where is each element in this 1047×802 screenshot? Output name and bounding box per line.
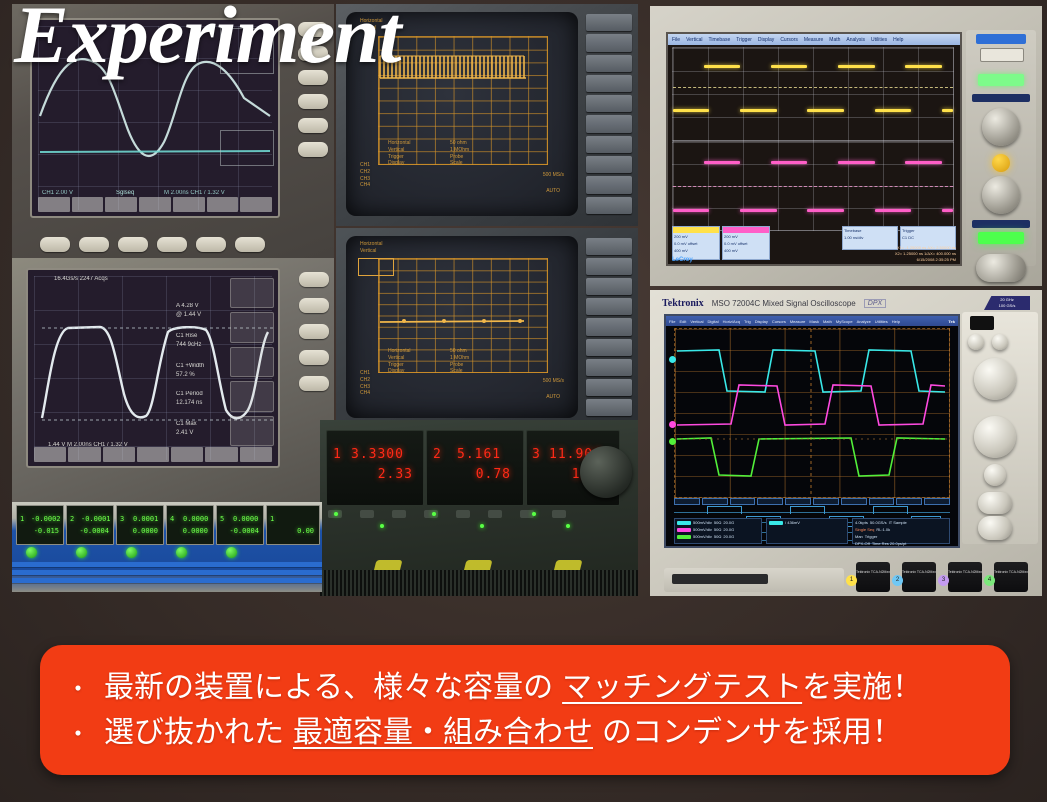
psu-2-volts: 5.161 — [457, 447, 501, 462]
crt-autolabel: AUTO — [546, 394, 560, 401]
green-4-ch: 4 — [170, 515, 174, 523]
crt-settings-c: CH1 CH2 CH3 CH4 — [360, 162, 370, 189]
ch3-bandwidth: 20.0G — [723, 534, 734, 539]
green-4-i: 0.0000 — [183, 527, 208, 535]
lecroy-menu-vertical[interactable]: Vertical — [686, 37, 702, 43]
photo-bench-oscilloscope-square: 16.4Gs/s 2247 Acqs A 4.28 V @ 1.44 V C1 … — [12, 258, 334, 504]
crt-settings-a: Horizontal Vertical Trigger Display — [388, 140, 411, 167]
tek-menu-edit[interactable]: Edit — [679, 319, 686, 324]
status-record: 4.0kpts — [855, 520, 868, 525]
lecroy-menu-analysis[interactable]: Analysis — [846, 37, 865, 43]
green-4-v: 0.0000 — [183, 515, 208, 523]
tektronix-front-panel — [962, 312, 1038, 544]
crt-settings-b: 50 ohm 1 MOhm Probe Scale — [450, 348, 469, 375]
psu-status-led — [532, 512, 536, 516]
status-man: Man — [855, 534, 863, 539]
bullet-glyph-2: ・ — [66, 722, 90, 747]
probe-model-label: Tektronix TCA-N2Mxx — [856, 562, 890, 574]
lecroy-ch2-text: 200 mV — [723, 233, 769, 240]
tek-d0-pulse — [873, 506, 908, 514]
cursor-invdx: 1/ΔX= 400.000 ns — [924, 251, 956, 256]
status-dpx: DPX-Off — [855, 541, 870, 546]
photo-tektronix-mso: Tektronix MSO 72004C Mixed Signal Oscill… — [650, 290, 1042, 596]
ch3-color-chip — [677, 535, 691, 539]
probe-model-label: Tektronix TCA-N2Mxx — [902, 562, 936, 574]
lecroy-run-indicator — [978, 232, 1024, 244]
crt-top-label: Horizontal Vertical — [360, 241, 383, 255]
lecroy-menu-trigger[interactable]: Trigger — [736, 37, 752, 43]
legend-row-ch3: 500mV/div 50Ω 20.0G — [675, 533, 761, 540]
lecroy-label-plate — [980, 48, 1024, 62]
psu-1-volts: 3.3300 — [351, 447, 404, 462]
legend-row-ch2: 500mV/div 50Ω 20.0G — [675, 526, 761, 533]
ch1-color-chip — [677, 521, 691, 525]
psu-status-led — [334, 512, 338, 516]
callout-line-2: ・ 選び抜かれた 最適容量・組み合わせ のコンデンサを採用！ — [66, 717, 984, 749]
tek-d0-pulse — [790, 506, 825, 514]
psu-status-led — [380, 524, 384, 528]
lecroy-section-divider — [972, 94, 1030, 102]
tek-menu-measure[interactable]: Measure — [790, 319, 806, 324]
green-3-i: 0.0000 — [133, 527, 158, 535]
green-5-v: 0.0000 — [233, 515, 258, 523]
psu-2-amps: 0.78 — [476, 467, 511, 482]
green-output-button[interactable] — [76, 547, 87, 558]
bullet-glyph-1: ・ — [66, 677, 90, 702]
green-unit-3: 3 0.0001 0.0000 — [116, 505, 164, 545]
lecroy-timestamp: 6/15/2008 2:35:25 PM — [917, 257, 956, 262]
page-title: Experiment — [14, 0, 400, 76]
callout-line-2-post: のコンデンサを採用！ — [602, 717, 902, 749]
ch1-bandwidth: 20.0G — [723, 520, 734, 525]
tek-d0-pulse — [707, 506, 742, 514]
lecroy-menu-math[interactable]: Math — [829, 37, 840, 43]
green-output-button[interactable] — [26, 547, 37, 558]
photo-lecroy-oscilloscope: File Vertical Timebase Trigger Display C… — [650, 6, 1042, 286]
scope-measurements: A 4.28 V @ 1.44 V — [176, 302, 201, 320]
rack-blue-band — [12, 562, 322, 567]
lecroy-menu-utilities[interactable]: Utilities — [871, 37, 887, 43]
tek-menu-mask[interactable]: Mask — [809, 319, 819, 324]
scope-front-buttons[interactable] — [40, 237, 265, 252]
lecroy-plot-channel2 — [672, 141, 954, 231]
rack-blue-band — [12, 570, 322, 575]
cursor-dx: ΔX= 2.50000 ns — [927, 245, 956, 250]
lecroy-blue-indicator — [976, 34, 1026, 44]
tek-run-stop-button[interactable] — [978, 492, 1012, 514]
tek-vertical-scale-knob[interactable] — [974, 358, 1016, 400]
tek-menu-math[interactable]: Math — [823, 319, 832, 324]
lecroy-ground-marker-ch2 — [673, 186, 953, 188]
scope-meas-rise: C1 Rise 744 9cHz — [176, 332, 201, 350]
scope-meas-max: C1 Max 2.41 V — [176, 420, 197, 438]
status-trigger: Trigger — [865, 534, 878, 539]
tek-default-setup-button[interactable] — [992, 334, 1008, 350]
ch2-color-chip — [677, 528, 691, 532]
callout-line-1-pre: 最新の装置による、様々な容量の — [104, 672, 553, 704]
tektronix-analog-plot — [674, 328, 950, 498]
lecroy-section-divider — [972, 220, 1030, 228]
tek-probe-2[interactable]: Tektronix TCA-N2Mxx 2 — [902, 562, 936, 592]
green-1-ch: 1 — [20, 515, 24, 523]
lecroy-menu-cursors[interactable]: Cursors — [780, 37, 798, 43]
crt-settings-b: 50 ohm 1 MOhm Probe Scale — [450, 140, 469, 167]
ch2-scale: 500mV/div — [693, 527, 712, 532]
ch2-impedance: 50Ω — [714, 527, 721, 532]
tek-media-bay — [664, 568, 844, 592]
status-seq: Single Seq — [855, 527, 874, 532]
tek-menu-digital[interactable]: Digital — [707, 319, 718, 324]
tek-bus-decode-row — [674, 498, 950, 505]
scope-acq-label: 16.4Gs/s 2247 Acqs — [54, 276, 108, 282]
scope-readout-ch1: CH1 2.00 V — [42, 190, 73, 196]
tektronix-footer: 500mV/div 50Ω 20.0G 500mV/div 50Ω 20.0G … — [674, 518, 950, 544]
probe-channel-2-badge: 2 — [892, 575, 903, 586]
tek-menu-horizacq[interactable]: Horiz/Acq — [723, 319, 740, 324]
tek-menu-display[interactable]: Display — [755, 319, 768, 324]
ch2-bandwidth: 20.0G — [723, 527, 734, 532]
tek-menu-cursors[interactable]: Cursors — [772, 319, 786, 324]
lecroy-brand-logo: LeCroy — [672, 257, 693, 263]
crt-settings-c: CH1 CH2 CH3 CH4 — [360, 370, 370, 397]
scope-side-menu[interactable] — [230, 278, 274, 446]
lecroy-plot-channel1 — [672, 47, 954, 141]
probe-channel-1-badge: 1 — [846, 575, 857, 586]
lecroy-ground-marker-ch1 — [673, 87, 953, 89]
lecroy-screen: File Vertical Timebase Trigger Display C… — [666, 32, 962, 266]
psu-control-row-1[interactable] — [328, 510, 566, 518]
crt-cursor-box — [358, 258, 394, 276]
tektronix-dpx-badge: DPX — [864, 299, 886, 308]
tek-menu-help[interactable]: Help — [892, 319, 900, 324]
psu-status-led — [566, 524, 570, 528]
psu-unit-2: 2 5.161 0.78 — [426, 430, 524, 506]
tek-menu-vertical[interactable]: Vertical — [690, 319, 703, 324]
photo-dc-power-supply-red-led: 1 3.3300 2.33 2 5.161 0.78 3 11.904 1.79 — [320, 420, 638, 596]
scope-bottom-menu[interactable] — [34, 447, 272, 462]
ch3-impedance: 50Ω — [714, 534, 721, 539]
crt-samplerate: 500 MS/s — [543, 378, 564, 385]
lecroy-multipurpose-knob[interactable] — [976, 254, 1026, 282]
psu-2-channel: 2 — [433, 447, 442, 462]
status-row-2: Single Seq RL:1.0k — [853, 526, 949, 533]
status-row-1: 4.0kpts 50.0GS/s IT Sample — [853, 519, 949, 526]
lecroy-menu-timebase[interactable]: Timebase — [708, 37, 730, 43]
green-1-v: -0.0002 — [31, 515, 61, 523]
green-unit-1: 1 -0.0002 -0.015 — [16, 505, 64, 545]
tek-menu-trig[interactable]: Trig — [744, 319, 751, 324]
callout-line-2-pre: 選び抜かれた — [104, 717, 284, 749]
lecroy-amber-led — [992, 154, 1010, 172]
status-row-4: DPX-Off Time Res 20.0ps/pt — [853, 540, 949, 547]
trigger-row: / 436mV — [767, 519, 847, 526]
tek-trigger-box[interactable]: / 436mV — [766, 518, 848, 544]
psu-status-led — [432, 512, 436, 516]
green-2-i: -0.0004 — [79, 527, 109, 535]
tek-corner-logo: Tek — [948, 319, 955, 324]
tek-probe-1[interactable]: Tektronix TCA-N2Mxx 1 — [856, 562, 890, 592]
callout-line-1-emphasis: マッチングテスト — [562, 672, 802, 704]
lecroy-cursor-readout: X1= -1.25000 ns ΔX= 2.50000 ns X2= 1.250… — [844, 245, 956, 263]
ch1-scale: 500mV/div — [693, 520, 712, 525]
tektronix-model: MSO 72004C Mixed Signal Oscilloscope — [712, 299, 856, 308]
tek-autoset-button[interactable] — [968, 334, 984, 350]
probe-channel-4-badge: 4 — [984, 575, 995, 586]
legend-row-ch1: 500mV/div 50Ω 20.0G — [675, 519, 761, 526]
ch1-impedance: 50Ω — [714, 520, 721, 525]
tektronix-header: Tektronix MSO 72004C Mixed Signal Oscill… — [662, 294, 1030, 312]
tek-probe-4[interactable]: Tektronix TCA-N2Mxx 4 — [994, 562, 1028, 592]
tek-probe-3[interactable]: Tektronix TCA-N2Mxx 3 — [948, 562, 982, 592]
trigger-source-chip — [769, 521, 783, 525]
scope-screen-square: 16.4Gs/s 2247 Acqs A 4.28 V @ 1.44 V C1 … — [26, 268, 280, 468]
psu-1-channel: 1 — [333, 447, 342, 462]
scope-trigger-note — [220, 130, 274, 166]
green-2-v: -0.0001 — [81, 515, 111, 523]
lecroy-menu-measure[interactable]: Measure — [804, 37, 823, 43]
status-row-3: Man Trigger — [853, 533, 949, 540]
green-3-v: 0.0001 — [133, 515, 158, 523]
lecroy-green-indicator — [978, 74, 1024, 86]
psu-1-amps: 2.33 — [378, 467, 413, 482]
green-2-ch: 2 — [70, 515, 74, 523]
lecroy-vertical-knob[interactable] — [982, 108, 1020, 146]
green-5-ch: 5 — [220, 515, 224, 523]
probe-model-label: Tektronix TCA-N2Mxx — [994, 562, 1028, 574]
scope-meas-period: C1 Period 12.174 ns — [176, 390, 203, 408]
callout-line-1-post: を実施！ — [802, 672, 922, 704]
tektronix-screen: File Edit Vertical Digital Horiz/Acq Tri… — [664, 314, 960, 548]
tek-menu-myscope[interactable]: MyScope — [836, 319, 853, 324]
crt-screen-flat: Horizontal Vertical Horizontal Vertical … — [346, 236, 578, 418]
crt-autolabel: AUTO — [546, 188, 560, 195]
crt-bezel-buttons[interactable] — [586, 238, 632, 416]
slide-canvas: CH1 2.00 V Sglseq M 2.00ns CH1 / 1.32 V — [0, 0, 1047, 802]
status-mode: IT Sample — [889, 520, 907, 525]
green-1-i: -0.015 — [34, 527, 59, 535]
cursor-x2: X2= 1.25000 ns — [895, 251, 923, 256]
scope-readout-seq: Sglseq — [116, 190, 134, 196]
scope-bottom-menu[interactable] — [38, 197, 272, 212]
tek-display-window — [970, 316, 994, 330]
green-unit-2: 2 -0.0001 -0.0004 — [66, 505, 114, 545]
scope-meas-width: C1 +Width 57.2 % — [176, 362, 204, 380]
crt-samplerate: 500 MS/s — [543, 172, 564, 179]
green-unit-5: 5 0.0000 -0.0004 — [216, 505, 264, 545]
psu-unit-1: 1 3.3300 2.33 — [326, 430, 424, 506]
psu-3-channel: 3 — [532, 447, 541, 462]
psu-heatsink-vents — [320, 570, 638, 596]
status-timeres: Time Res 20.0ps/pt — [872, 541, 907, 546]
callout-line-1: ・ 最新の装置による、様々な容量の マッチングテスト を実施！ — [66, 672, 984, 704]
trigger-level: / 436mV — [785, 520, 800, 525]
psu-rotary-knob[interactable] — [580, 446, 632, 498]
tek-menu-file[interactable]: File — [669, 319, 675, 324]
rack-blue-band — [12, 578, 322, 583]
photo-amber-crt-flat-trace: Horizontal Vertical Horizontal Vertical … — [336, 228, 638, 428]
lecroy-horizontal-knob[interactable] — [982, 176, 1020, 214]
tek-drive-slot — [672, 574, 768, 584]
ch3-scale: 500mV/div — [693, 534, 712, 539]
lecroy-ch2-descriptor[interactable]: 200 mV 0.0 mV offset 400 mV — [722, 226, 770, 260]
lecroy-ch1-descriptor[interactable]: 200 mV 0.0 mV offset 400 mV — [672, 226, 720, 260]
green-output-button[interactable] — [226, 547, 237, 558]
lecroy-ch1-text: 200 mV — [673, 233, 719, 240]
lecroy-menu-file[interactable]: File — [672, 37, 680, 43]
tek-position-knob[interactable] — [984, 464, 1006, 486]
tek-menu-utilities[interactable]: Utilities — [875, 319, 888, 324]
green-output-button[interactable] — [176, 547, 187, 558]
tek-horizontal-scale-knob[interactable] — [974, 416, 1016, 458]
callout-line-2-emphasis: 最適容量・組み合わせ — [293, 717, 593, 749]
green-unit-6: 1 0.00 — [266, 505, 320, 545]
probe-channel-3-badge: 3 — [938, 575, 949, 586]
tektronix-menubar[interactable]: File Edit Vertical Digital Horiz/Acq Tri… — [666, 316, 958, 326]
crt-bezel-buttons[interactable] — [586, 14, 632, 214]
scope-readout-timebase: M 2.00ns CH1 / 1.32 V — [164, 190, 225, 196]
tek-single-button[interactable] — [978, 516, 1012, 540]
green-output-button[interactable] — [126, 547, 137, 558]
status-rl: RL:1.0k — [876, 527, 890, 532]
crt-settings-a: Horizontal Vertical Trigger Display — [388, 348, 411, 375]
tektronix-bandwidth-badge: 20 GHz100 GS/s — [984, 296, 1030, 310]
scope-bezel-buttons[interactable] — [299, 272, 329, 391]
green-unit-4: 4 0.0000 0.0000 — [166, 505, 214, 545]
lecroy-menubar[interactable]: File Vertical Timebase Trigger Display C… — [668, 34, 960, 45]
lecroy-menu-display[interactable]: Display — [758, 37, 774, 43]
lecroy-front-panel — [966, 30, 1036, 266]
psu-status-led — [480, 524, 484, 528]
green-3-ch: 3 — [120, 515, 124, 523]
cursor-x1: X1= -1.25000 ns — [897, 245, 926, 250]
tek-ch1-marker — [669, 356, 676, 363]
green-6-i: 0.00 — [297, 527, 314, 535]
tektronix-brand: Tektronix — [662, 298, 704, 309]
green-5-i: -0.0004 — [229, 527, 259, 535]
lecroy-menu-help[interactable]: Help — [893, 37, 903, 43]
probe-model-label: Tektronix TCA-N2Mxx — [948, 562, 982, 574]
tek-menu-analyze[interactable]: Analyze — [857, 319, 871, 324]
green-6-ch: 1 — [270, 515, 274, 523]
tek-channel-legend: 500mV/div 50Ω 20.0G 500mV/div 50Ω 20.0G … — [674, 518, 762, 544]
status-samplerate: 50.0GS/s — [870, 520, 887, 525]
photo-source-meter-green-led: 1 -0.0002 -0.015 2 -0.0001 -0.0004 3 0.0… — [12, 502, 322, 592]
callout-box: ・ 最新の装置による、様々な容量の マッチングテスト を実施！ ・ 選び抜かれた… — [40, 645, 1010, 775]
tek-acquisition-status: 4.0kpts 50.0GS/s IT Sample Single Seq RL… — [852, 518, 950, 544]
